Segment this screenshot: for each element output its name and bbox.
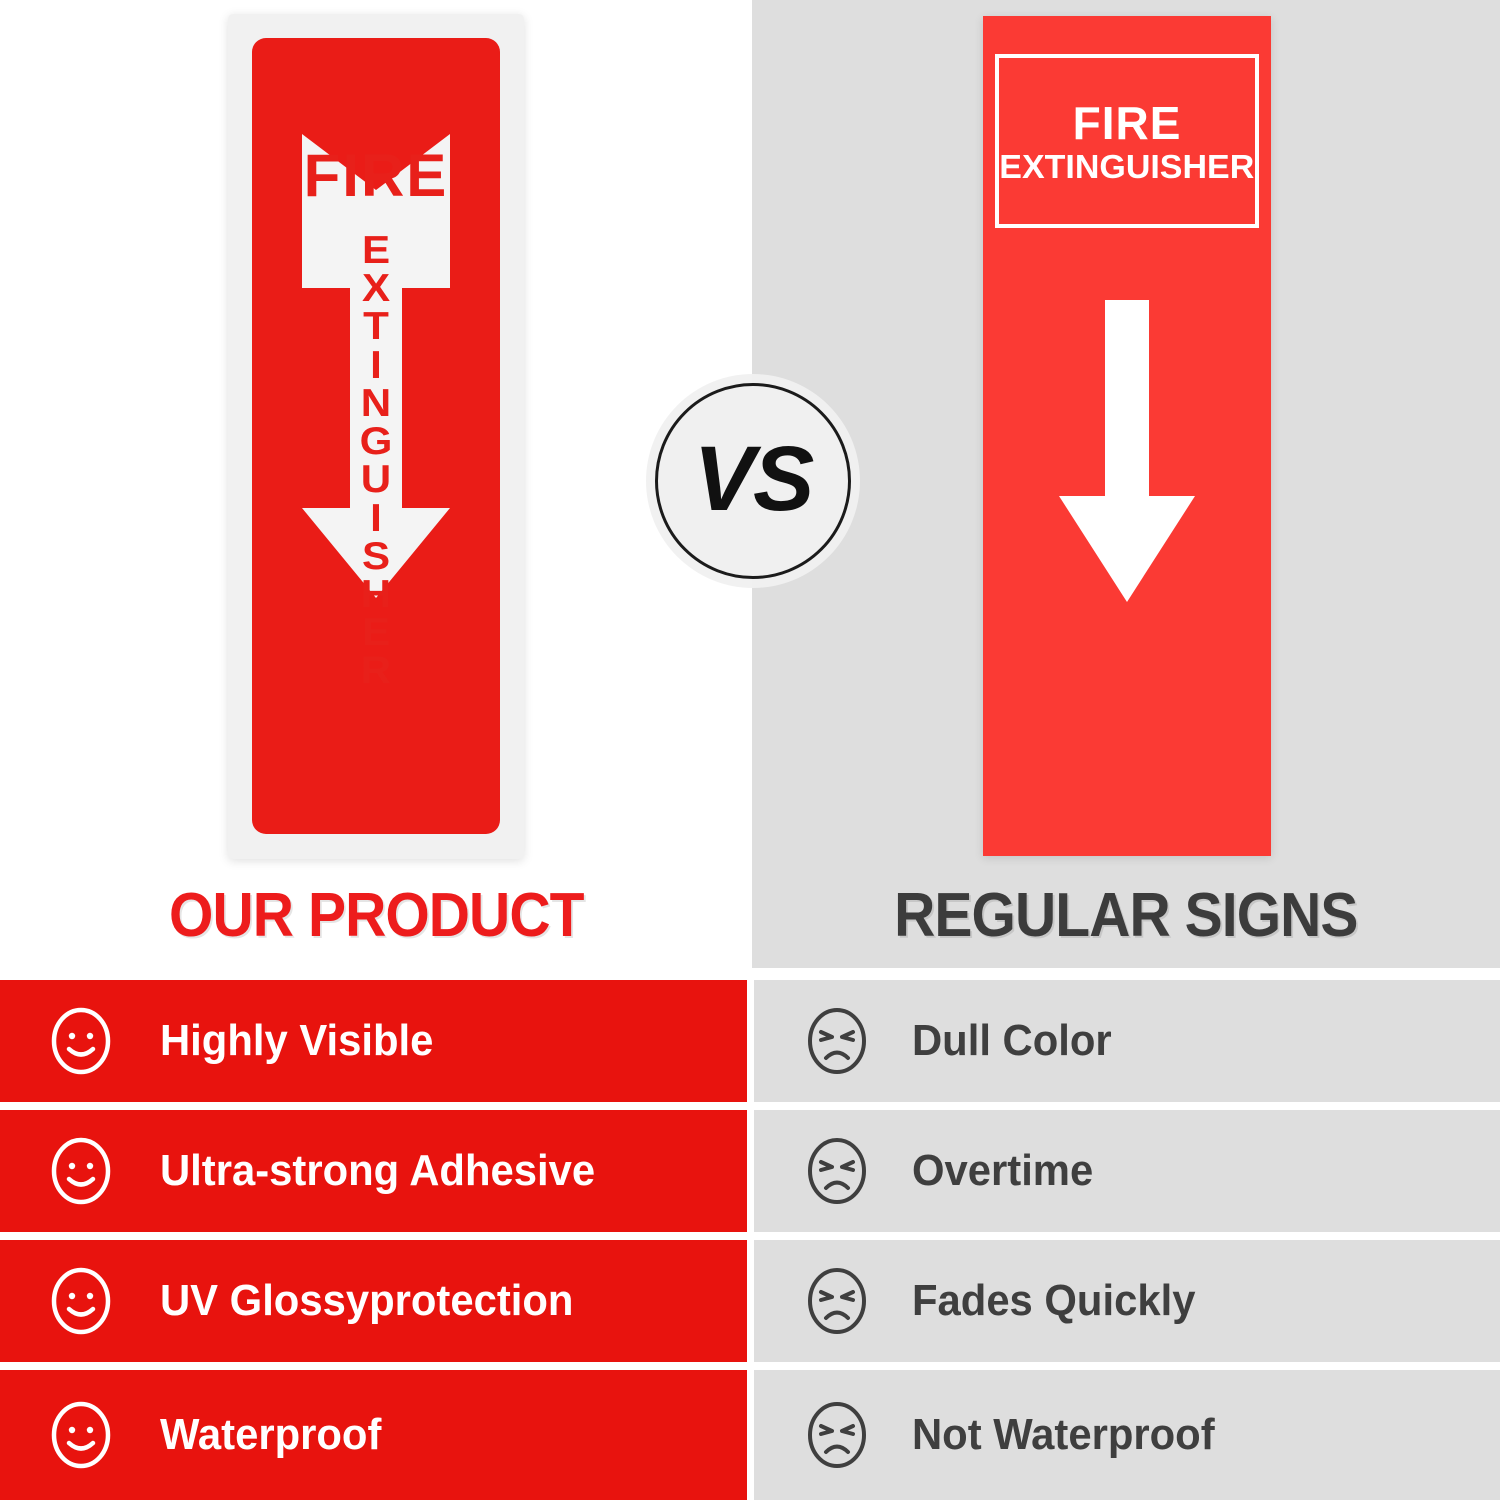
con-feature-label: Dull Color [912, 1019, 1112, 1063]
smiley-face-icon [44, 1004, 118, 1078]
pro-cell: Highly Visible [0, 980, 747, 1102]
ext-letter: X [252, 270, 500, 308]
comparison-infographic: FIRE E X T I N G U I S H E R [0, 0, 1500, 1500]
vs-label: VS [694, 433, 813, 525]
pro-cell: Waterproof [0, 1370, 747, 1500]
con-feature-label: Overtime [912, 1149, 1093, 1193]
con-feature-label: Fades Quickly [912, 1279, 1195, 1323]
sad-face-icon [800, 1264, 874, 1338]
smiley-face-icon [44, 1264, 118, 1338]
product-sign-frame: FIRE E X T I N G U I S H E R [228, 14, 524, 859]
ext-letter: I [252, 347, 500, 385]
pro-cell: UV Glossyprotection [0, 1240, 747, 1362]
heading-regular-signs: REGULAR SIGNS [752, 876, 1500, 956]
con-cell: Not Waterproof [754, 1370, 1500, 1500]
product-sign-panel: FIRE E X T I N G U I S H E R [252, 38, 500, 834]
con-cell: Overtime [754, 1110, 1500, 1232]
product-sign-fire-text: FIRE [252, 146, 500, 206]
pro-feature-label: Ultra-strong Adhesive [160, 1149, 595, 1193]
ext-letter: S [252, 538, 500, 576]
table-row: Ultra-strong Adhesive Overtime [0, 1110, 1500, 1232]
sad-face-icon [800, 1004, 874, 1078]
ext-letter: I [252, 500, 500, 538]
pro-cell: Ultra-strong Adhesive [0, 1110, 747, 1232]
pro-feature-label: UV Glossyprotection [160, 1279, 573, 1323]
sad-face-icon [800, 1134, 874, 1208]
smiley-face-icon [44, 1398, 118, 1472]
product-sign-extinguisher-text: E X T I N G U I S H E R [252, 232, 500, 691]
heading-right-text: REGULAR SIGNS [894, 885, 1357, 947]
ext-letter: H [252, 576, 500, 614]
comparison-table: Highly Visible Dull Color [0, 980, 1500, 1500]
table-row: Waterproof Not Waterproof [0, 1370, 1500, 1500]
heading-our-product: OUR PRODUCT [0, 876, 752, 956]
regular-sign-label-box: FIRE EXTINGUISHER [995, 54, 1259, 228]
con-feature-label: Not Waterproof [912, 1413, 1215, 1457]
vs-badge: VS [655, 383, 851, 579]
pro-feature-label: Highly Visible [160, 1019, 433, 1063]
smiley-face-icon [44, 1134, 118, 1208]
table-row: Highly Visible Dull Color [0, 980, 1500, 1102]
ext-letter: U [252, 461, 500, 499]
heading-left-text: OUR PRODUCT [169, 885, 584, 947]
hero-section: FIRE E X T I N G U I S H E R [0, 0, 1500, 968]
con-cell: Dull Color [754, 980, 1500, 1102]
con-cell: Fades Quickly [754, 1240, 1500, 1362]
ext-letter: T [252, 308, 500, 346]
table-row: UV Glossyprotection Fades Quickly [0, 1240, 1500, 1362]
regular-sign-panel: FIRE EXTINGUISHER [983, 16, 1271, 856]
regular-sign-line2: EXTINGUISHER [1000, 150, 1255, 183]
ext-letter: E [252, 614, 500, 652]
ext-letter: G [252, 423, 500, 461]
ext-letter: N [252, 385, 500, 423]
pro-feature-label: Waterproof [160, 1413, 381, 1457]
sad-face-icon [800, 1398, 874, 1472]
ext-letter: E [252, 232, 500, 270]
regular-sign-line1: FIRE [1073, 100, 1182, 146]
ext-letter: R [252, 652, 500, 690]
